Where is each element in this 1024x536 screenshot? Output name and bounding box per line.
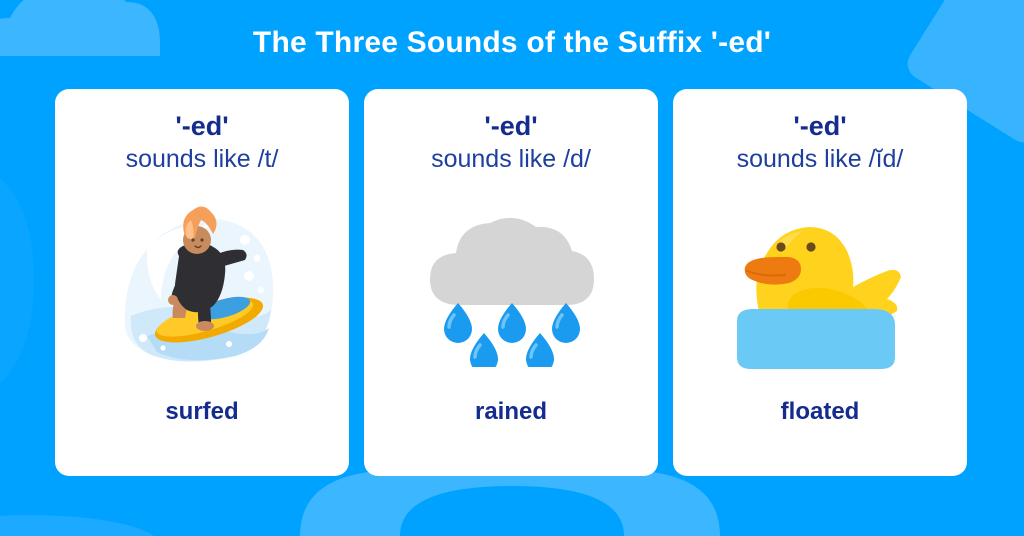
card-word-label: floated [781,398,860,426]
arc-shape-bottom-left [0,515,160,536]
card-sound-label: sounds like /t/ [126,144,279,175]
dome-shape-bottom-center [300,470,720,536]
card-illustration-rain [364,176,658,398]
raindrop-group-upper [444,303,580,343]
card-word-label: surfed [165,398,238,426]
band-shape-left [0,170,34,392]
water-shape [737,309,895,369]
duck-beak [744,257,800,285]
cloud-shape [430,218,594,305]
card-illustration-surfer [55,176,349,398]
card-sound-label: sounds like /d/ [431,144,591,175]
surfer-on-wave-icon [117,204,287,369]
page-title: The Three Sounds of the Suffix '-ed' [0,26,1024,60]
rubber-duck-on-water-icon [723,199,918,374]
card-illustration-duck [673,176,967,398]
card-sound-label: sounds like /ĭd/ [737,144,904,175]
card-suffix-label: '-ed' [484,112,537,140]
card-suffix-label: '-ed' [175,112,228,140]
rain-cloud-icon [424,207,599,367]
card-row: '-ed' sounds like /t/ [55,89,967,476]
dome-shape-bottom-inner [400,486,624,536]
sound-card-id[interactable]: '-ed' sounds like /ĭd/ [673,89,967,476]
sound-card-d[interactable]: '-ed' sounds like /d/ [364,89,658,476]
sound-card-t[interactable]: '-ed' sounds like /t/ [55,89,349,476]
card-suffix-label: '-ed' [793,112,846,140]
card-word-label: rained [475,398,547,426]
